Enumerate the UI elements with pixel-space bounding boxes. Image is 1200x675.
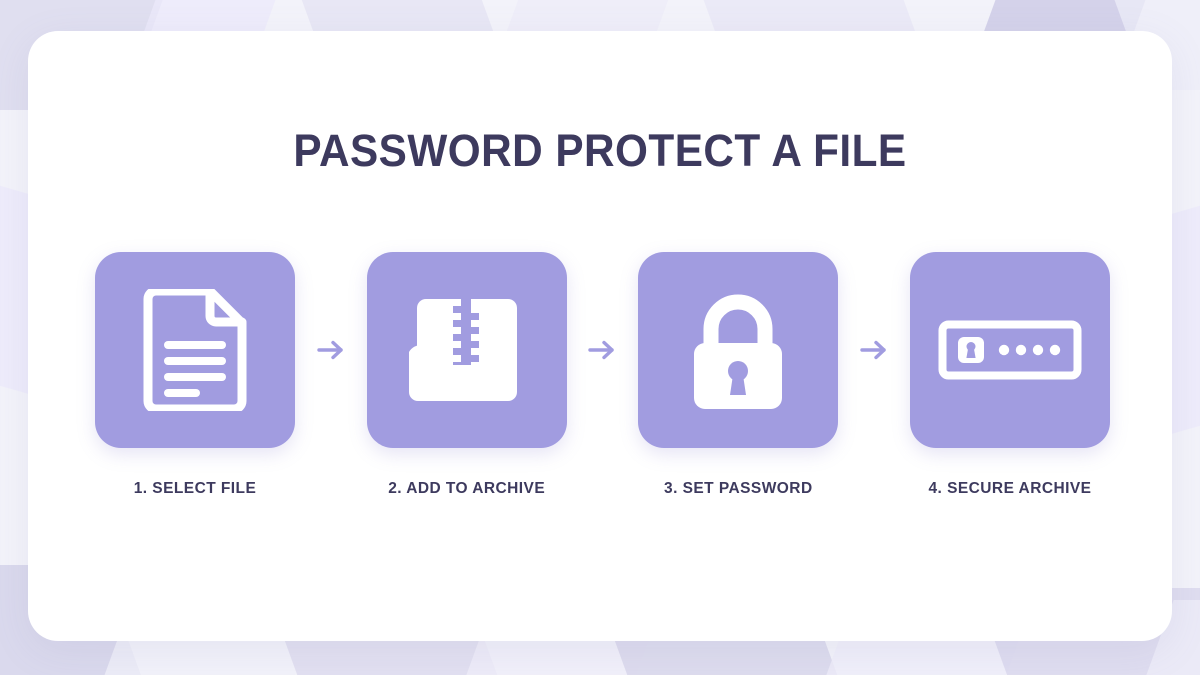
step-add-to-archive[interactable]: 2. ADD TO ARCHIVE — [367, 252, 567, 498]
zip-archive-icon — [405, 290, 529, 410]
step-2-tile[interactable] — [367, 252, 567, 448]
step-1-label: 1. SELECT FILE — [134, 480, 257, 498]
step-1-tile[interactable] — [95, 252, 295, 448]
step-secure-archive[interactable]: 4. SECURE ARCHIVE — [910, 252, 1110, 498]
infographic-canvas: PASSWORD PROTECT A FILE 1. SELECT FILE — [0, 0, 1200, 675]
step-3-tile[interactable] — [638, 252, 838, 448]
padlock-icon — [682, 289, 794, 411]
password-field-icon — [938, 320, 1082, 380]
step-2-label: 2. ADD TO ARCHIVE — [388, 480, 545, 498]
steps-row: 1. SELECT FILE — [95, 252, 1110, 498]
step-select-file[interactable]: 1. SELECT FILE — [95, 252, 295, 498]
content-card: PASSWORD PROTECT A FILE 1. SELECT FILE — [28, 31, 1172, 641]
document-icon — [140, 289, 250, 411]
page-title: PASSWORD PROTECT A FILE — [62, 125, 1137, 177]
step-4-label: 4. SECURE ARCHIVE — [928, 480, 1091, 498]
step-4-tile[interactable] — [910, 252, 1110, 448]
arrow-right-icon — [316, 338, 346, 362]
connector-2 — [580, 252, 624, 448]
arrow-right-icon — [587, 338, 617, 362]
step-set-password[interactable]: 3. SET PASSWORD — [638, 252, 838, 498]
arrow-right-icon — [859, 338, 889, 362]
step-3-label: 3. SET PASSWORD — [664, 480, 813, 498]
connector-1 — [309, 252, 353, 448]
connector-3 — [852, 252, 896, 448]
